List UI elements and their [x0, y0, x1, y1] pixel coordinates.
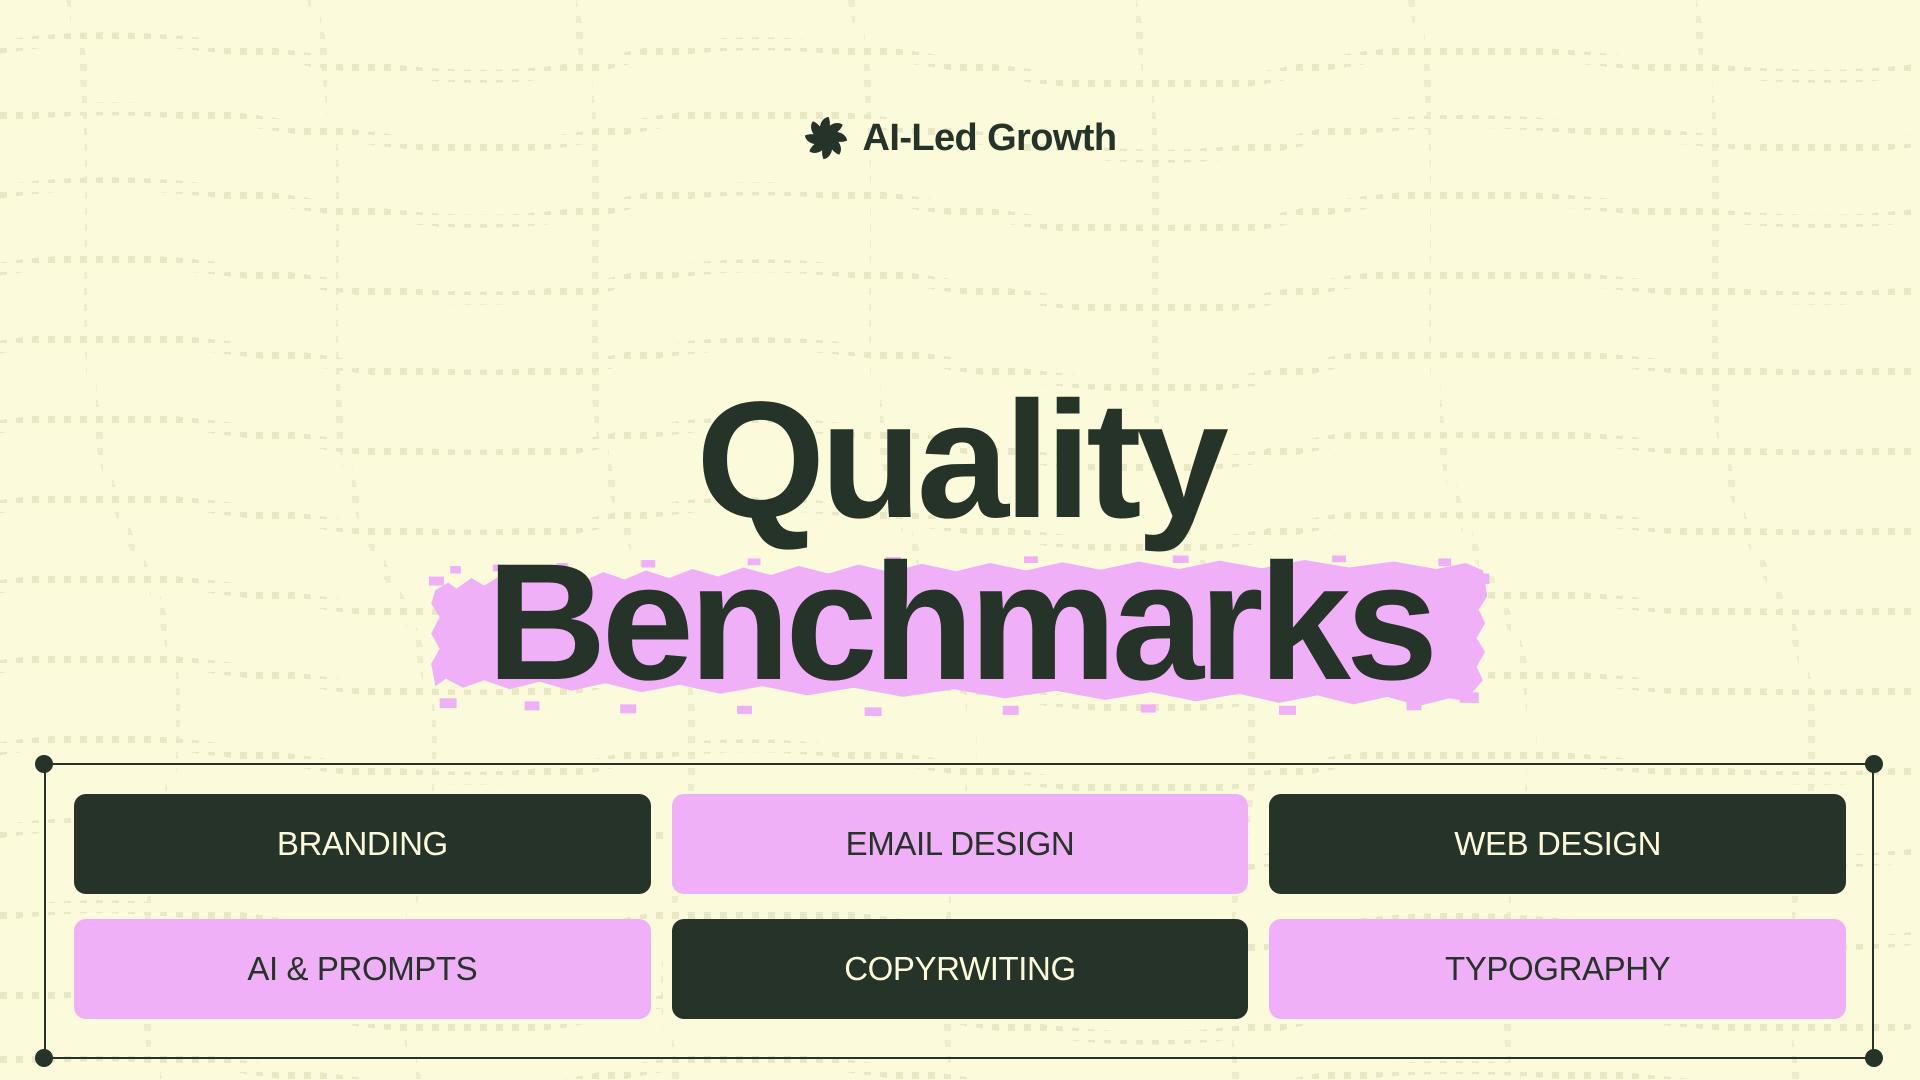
pinwheel-flower-icon	[804, 116, 848, 160]
resize-handle-bottom-left[interactable]	[35, 1049, 53, 1067]
resize-handle-top-right[interactable]	[1865, 755, 1883, 773]
page-title-line-1: Quality	[0, 381, 1920, 540]
page-title-line-2: Benchmarks	[487, 530, 1434, 715]
brand-lockup: AI-Led Growth	[0, 116, 1920, 160]
chip-typography[interactable]: TYPOGRAPHY	[1269, 919, 1846, 1019]
chip-copyrwiting[interactable]: COPYRWITING	[672, 919, 1249, 1019]
selection-edge-right	[1872, 763, 1874, 1059]
chip-branding[interactable]: BRANDING	[74, 794, 651, 894]
selection-edge-left	[44, 763, 46, 1059]
chip-ai-prompts[interactable]: AI & PROMPTS	[74, 919, 651, 1019]
selection-edge-bottom	[44, 1057, 1874, 1059]
page-title: Quality	[0, 381, 1920, 702]
chip-web-design[interactable]: WEB DESIGN	[1269, 794, 1846, 894]
selection-edge-top	[44, 763, 1874, 765]
resize-handle-bottom-right[interactable]	[1865, 1049, 1883, 1067]
page-title-line-2-wrap: Benchmarks	[463, 543, 1458, 702]
category-chip-grid: BRANDING EMAIL DESIGN WEB DESIGN AI & PR…	[74, 794, 1846, 1019]
brand-name: AI-Led Growth	[863, 119, 1117, 157]
chip-email-design[interactable]: EMAIL DESIGN	[672, 794, 1249, 894]
resize-handle-top-left[interactable]	[35, 755, 53, 773]
